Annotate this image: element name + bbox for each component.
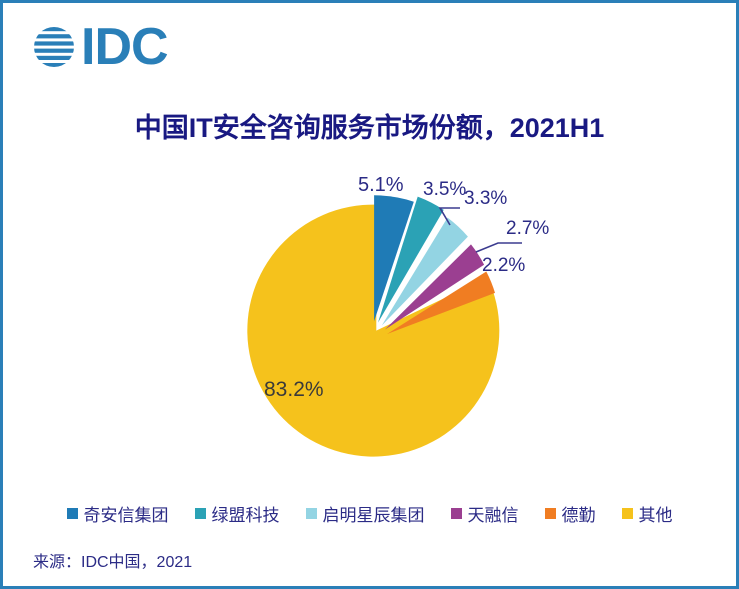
legend-label: 其他	[639, 501, 673, 526]
data-label-deqin: 2.2%	[482, 255, 525, 277]
legend-swatch-icon	[195, 508, 206, 519]
legend-label: 启明星辰集团	[323, 501, 425, 526]
pie-slice-deqin[interactable]	[387, 272, 495, 335]
chart-card: IDC 中国IT安全咨询服务市场份额，2021H1 5.1% 3.5% 3.3%	[0, 0, 739, 589]
pie-slice-qiming[interactable]	[382, 218, 468, 326]
pie-slice-qita[interactable]	[247, 205, 499, 457]
data-label-qianxin: 5.1%	[358, 174, 404, 197]
data-label-lvmeng: 3.5%	[423, 179, 466, 201]
legend-item-qiming[interactable]: 启明星辰集团	[306, 501, 425, 526]
legend-swatch-icon	[451, 508, 462, 519]
legend-label: 奇安信集团	[84, 501, 169, 526]
leader-line-2-7	[476, 243, 522, 252]
idc-logo: IDC	[31, 21, 168, 73]
data-label-qita: 83.2%	[264, 378, 324, 402]
legend-item-deqin[interactable]: 德勤	[545, 501, 596, 526]
legend-label: 天融信	[468, 501, 519, 526]
logo-wordmark: IDC	[81, 21, 168, 73]
legend-swatch-icon	[545, 508, 556, 519]
pie-slices	[247, 195, 499, 456]
legend-item-tianrongxin[interactable]: 天融信	[451, 501, 519, 526]
legend-label: 绿盟科技	[212, 501, 280, 526]
legend-swatch-icon	[67, 508, 78, 519]
pie-slice-lvmeng[interactable]	[378, 197, 444, 323]
data-label-qiming: 3.3%	[464, 188, 507, 210]
pie-slice-tianrongxin[interactable]	[385, 244, 484, 329]
legend-swatch-icon	[622, 508, 633, 519]
pie-slice-qianxin[interactable]	[374, 195, 414, 321]
chart-legend: 奇安信集团 绿盟科技 启明星辰集团 天融信 德勤 其他	[3, 501, 736, 526]
leader-line-3-3	[440, 208, 460, 225]
legend-item-qita[interactable]: 其他	[622, 501, 673, 526]
legend-item-lvmeng[interactable]: 绿盟科技	[195, 501, 280, 526]
legend-label: 德勤	[562, 501, 596, 526]
legend-item-qianxin[interactable]: 奇安信集团	[67, 501, 169, 526]
page-title: 中国IT安全咨询服务市场份额，2021H1	[3, 106, 736, 145]
data-label-tianrongxin: 2.7%	[506, 218, 549, 240]
legend-swatch-icon	[306, 508, 317, 519]
globe-icon	[31, 24, 77, 70]
source-note: 来源：IDC中国，2021	[33, 548, 192, 572]
